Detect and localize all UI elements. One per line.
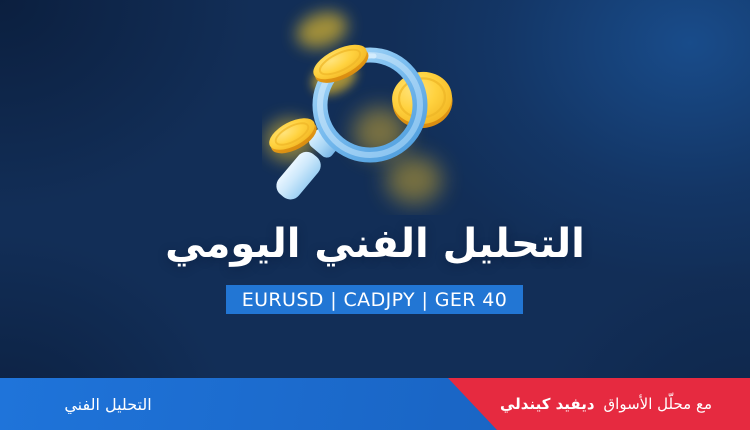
presenter-credit: مع محلّل الأسواق ديفيد كيندلي [500,378,712,430]
coin-bokeh-lower-right [386,156,442,204]
headline-title: التحليل الفني اليومي [0,222,750,267]
promo-banner: التحليل الفني اليومي EURUSD | CADJPY | G… [0,0,750,430]
instruments-label: EURUSD | CADJPY | GER 40 [242,289,508,311]
magnifying-glass-coins-illustration [262,0,522,215]
instruments-banner: EURUSD | CADJPY | GER 40 [226,285,523,314]
category-tag: التحليل الفني [0,378,216,430]
footer-bar: مع محلّل الأسواق ديفيد كيندلي التحليل ال… [0,378,750,430]
presenter-name: ديفيد كيندلي [500,395,595,413]
category-label: التحليل الفني [64,395,151,414]
presenter-prefix: مع محلّل الأسواق [604,395,712,413]
